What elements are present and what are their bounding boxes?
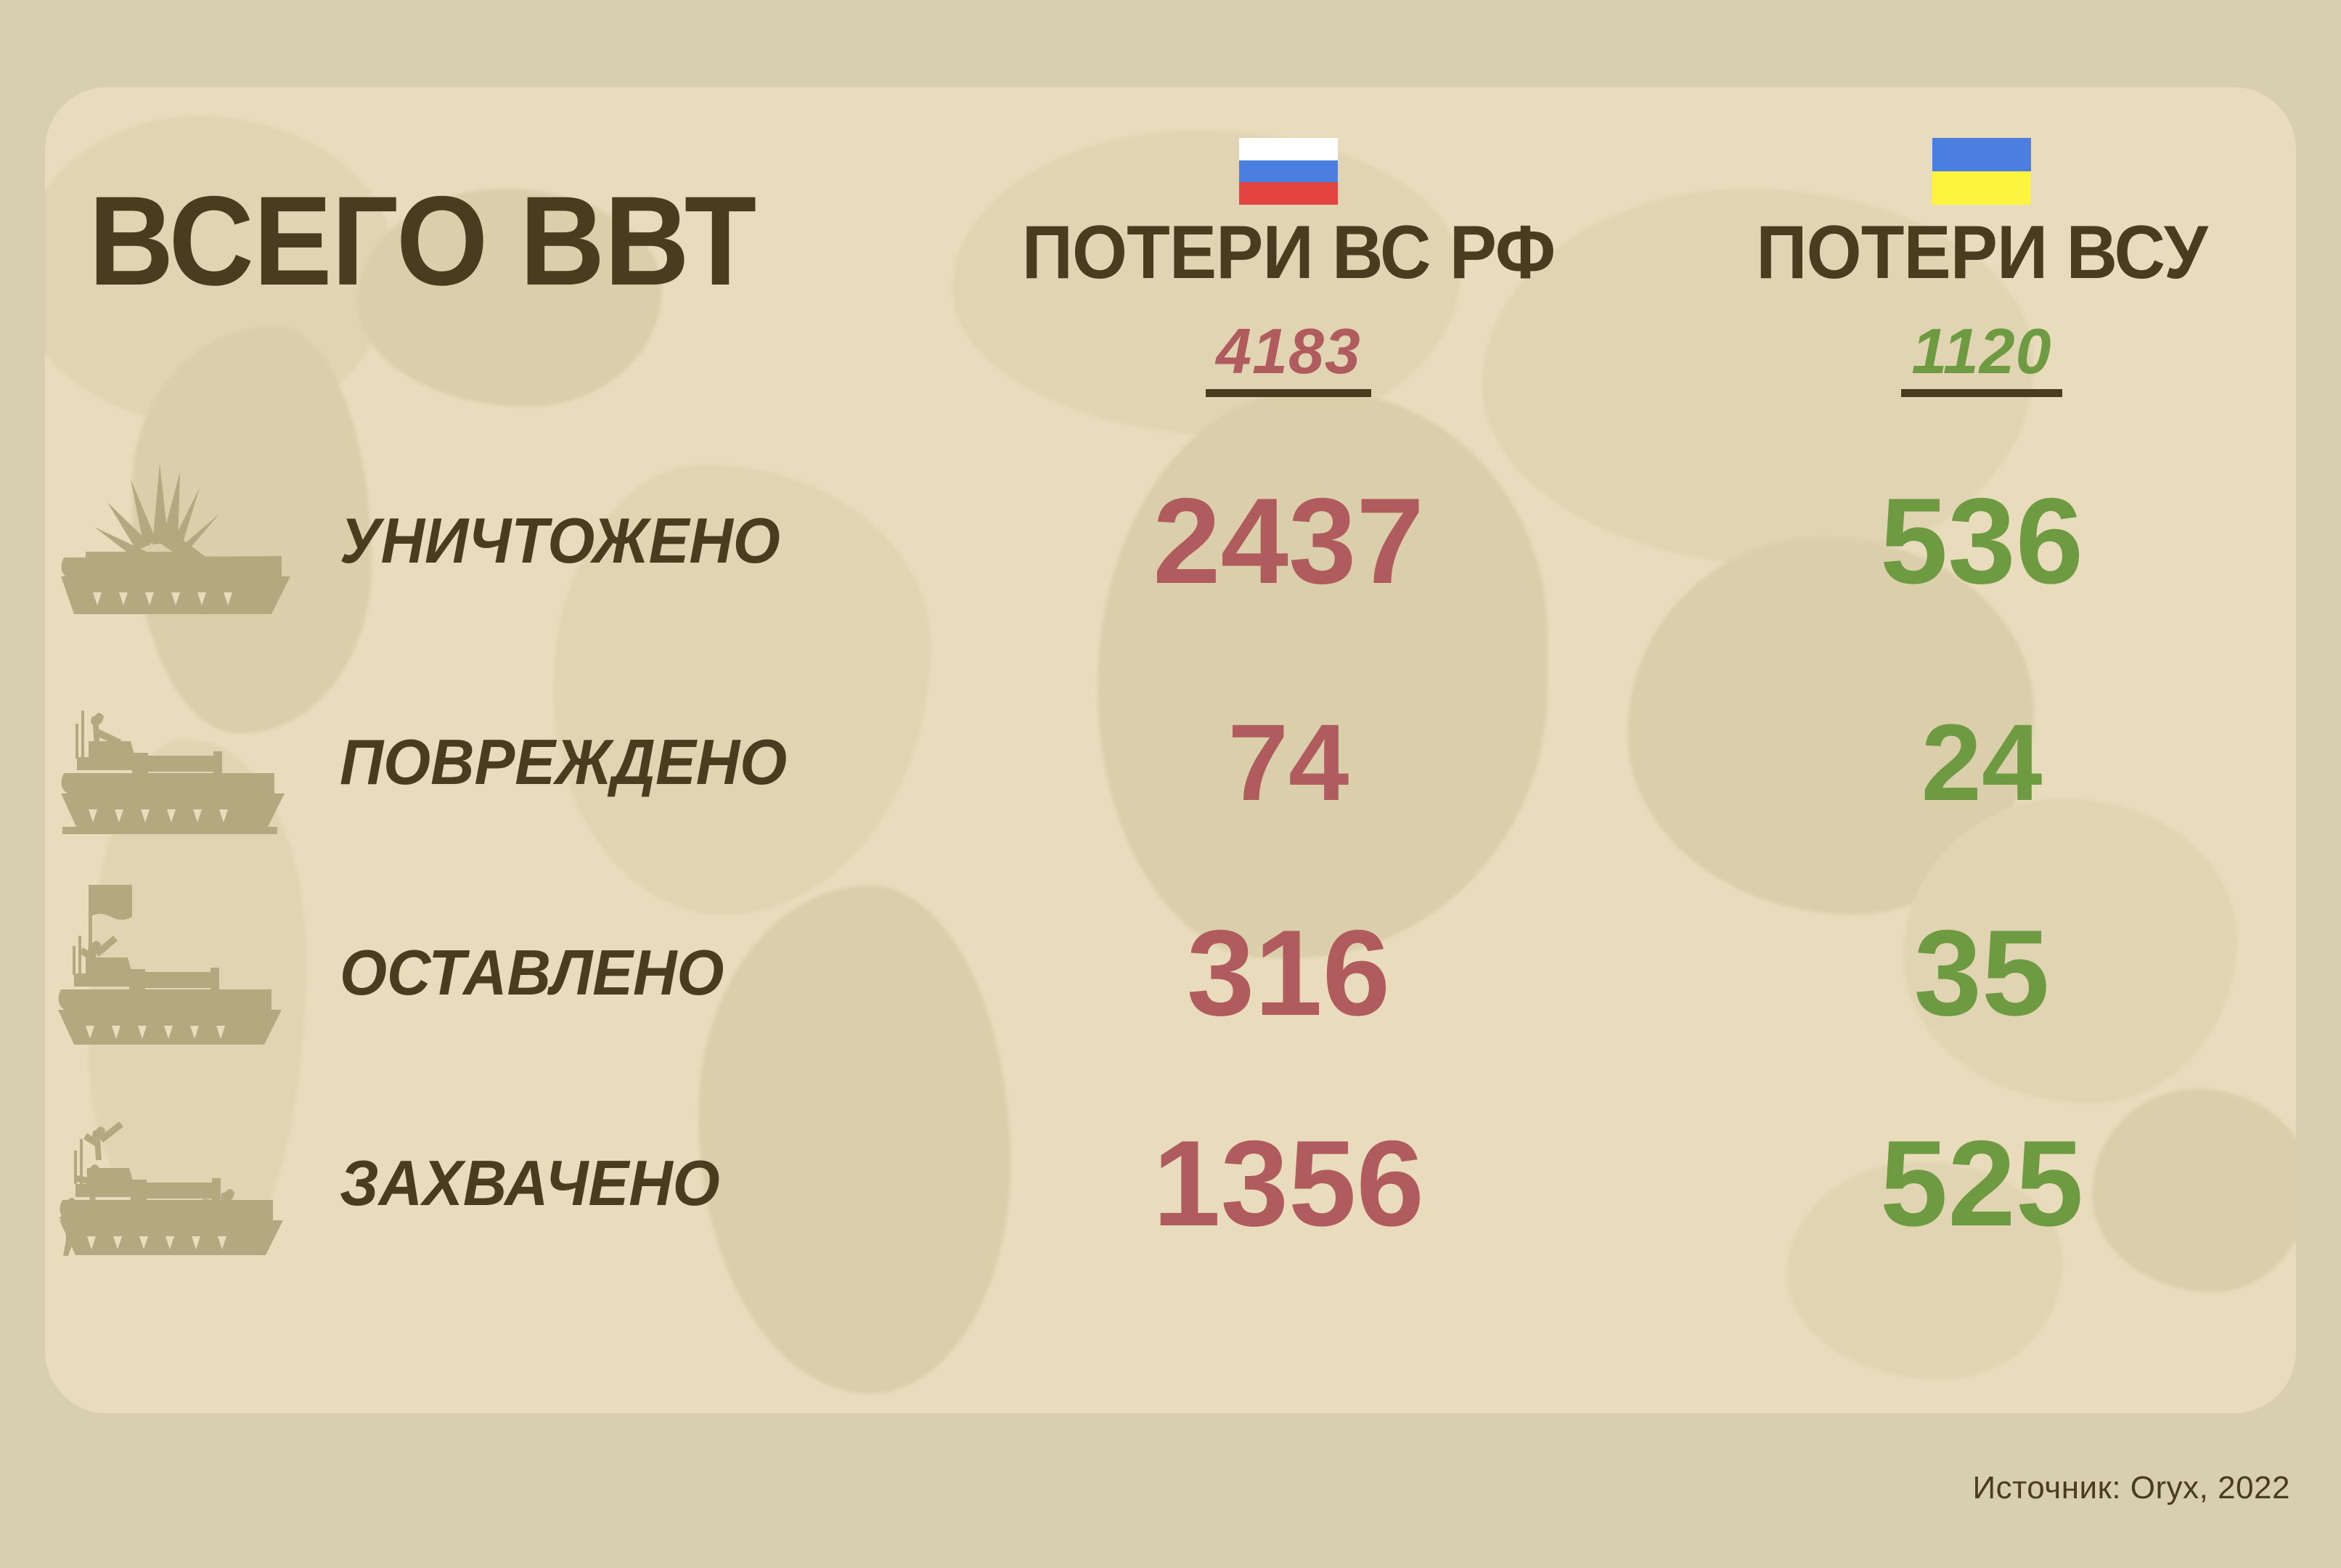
row-label: ЗАХВАЧЕНО [340, 1151, 720, 1215]
damaged-tank-icon [51, 671, 341, 853]
total-ukraine-underline [1901, 389, 2062, 397]
column-header-russia: ПОТЕРИ ВС РФ [965, 215, 1613, 290]
ukraine-flag-icon [1932, 138, 2031, 205]
column-ukraine: ПОТЕРИ ВСУ 1120 [1655, 138, 2308, 397]
total-russia-underline [1206, 389, 1371, 397]
table-row: ОСТАВЛЕНО 316 35 [0, 882, 2341, 1063]
row-value-ukraine: 536 [1655, 480, 2308, 602]
table-row: ПОВРЕЖДЕНО 74 24 [0, 671, 2341, 853]
page-title: ВСЕГО ВВТ [89, 178, 756, 305]
total-russia: 4183 [1206, 319, 1371, 397]
row-value-ukraine: 35 [1655, 912, 2308, 1034]
row-value-ukraine: 24 [1655, 708, 2308, 817]
column-header-ukraine: ПОТЕРИ ВСУ [1675, 215, 2289, 290]
captured-tank-icon [51, 1093, 341, 1274]
column-russia: ПОТЕРИ ВС РФ 4183 [944, 138, 1633, 397]
source-attribution: Источник: Oryx, 2022 [1973, 1470, 2291, 1506]
row-value-russia: 316 [944, 912, 1633, 1034]
table-row: УНИЧТОЖЕНО 2437 536 [0, 450, 2341, 632]
abandoned-tank-icon [51, 882, 341, 1063]
row-value-russia: 74 [944, 708, 1633, 817]
row-label: ОСТАВЛЕНО [340, 941, 724, 1005]
row-value-ukraine: 525 [1655, 1122, 2308, 1244]
row-value-russia: 1356 [944, 1122, 1633, 1244]
destroyed-tank-icon [51, 450, 341, 632]
row-value-russia: 2437 [944, 480, 1633, 602]
russia-flag-icon [1239, 138, 1338, 205]
total-russia-value: 4183 [1206, 319, 1371, 389]
total-ukraine: 1120 [1901, 319, 2062, 397]
total-ukraine-value: 1120 [1901, 319, 2062, 389]
row-label: ПОВРЕЖДЕНО [340, 730, 787, 794]
table-row: ЗАХВАЧЕНО 1356 525 [0, 1093, 2341, 1274]
row-label: УНИЧТОЖЕНО [340, 509, 780, 573]
